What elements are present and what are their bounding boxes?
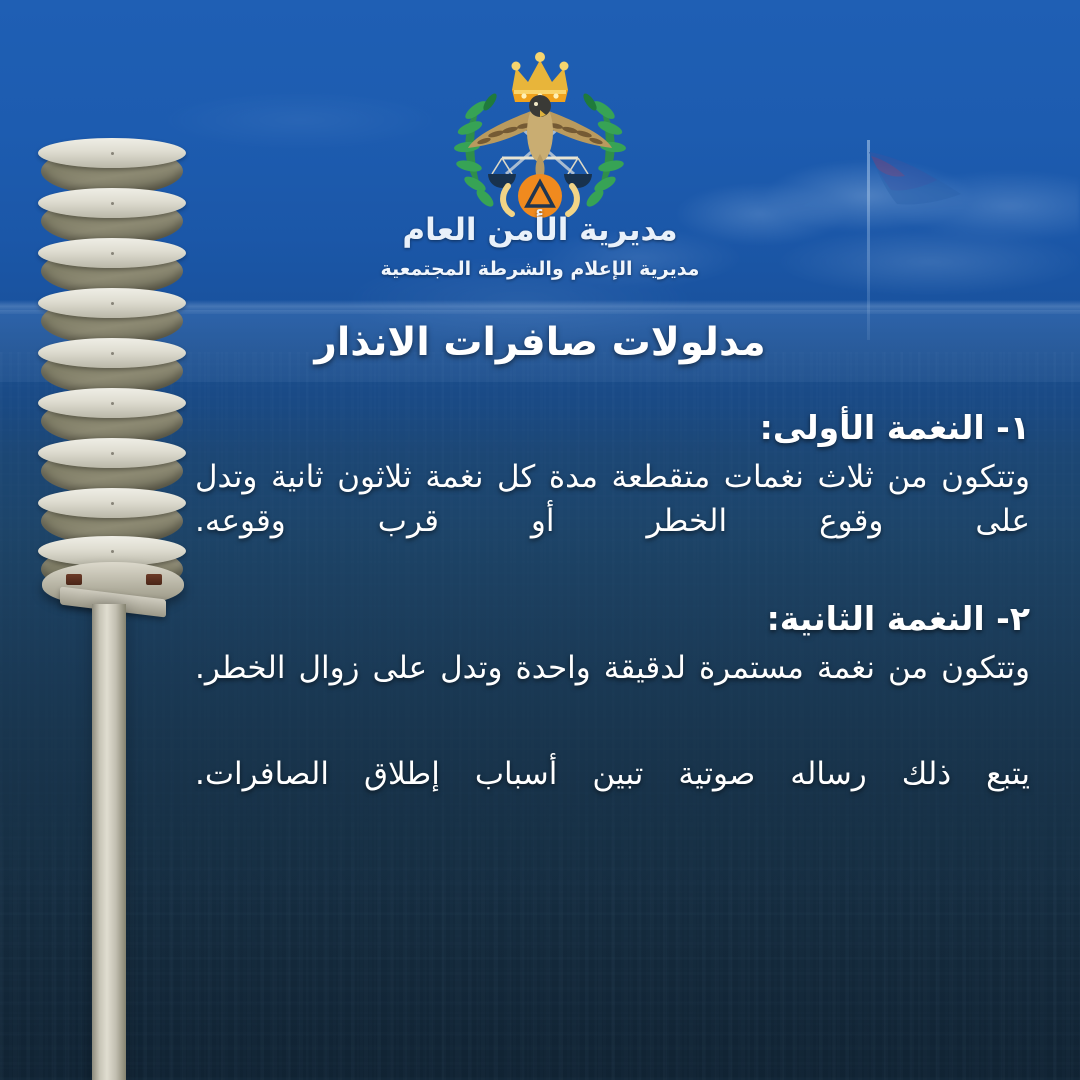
section-heading: ١- النغمة الأولى: — [195, 408, 1030, 447]
jordan-public-security-emblem — [450, 46, 630, 224]
section-heading: ٢- النغمة الثانية: — [195, 599, 1030, 638]
section-first-tone: ١- النغمة الأولى: وتتكون من ثلاث نغمات م… — [195, 408, 1030, 543]
organization-subtitle: مديرية الإعلام والشرطة المجتمعية — [0, 258, 1080, 280]
section-body: وتتكون من ثلاث نغمات متقطعة مدة كل نغمة … — [195, 455, 1030, 543]
closing-note: يتبع ذلك رساله صوتية تبين أسباب إطلاق ال… — [195, 752, 1030, 796]
royal-crown-icon — [512, 52, 569, 102]
organization-script-title: مديرية الأمن العام — [0, 212, 1080, 248]
siren-pole — [92, 604, 126, 1080]
poster-content: ١- النغمة الأولى: وتتكون من ثلاث نغمات م… — [195, 408, 1030, 796]
section-body: وتتكون من نغمة مستمرة لدقيقة واحدة وتدل … — [195, 646, 1030, 690]
poster-canvas: مديرية الأمن العام مديرية الإعلام والشرط… — [0, 0, 1080, 1080]
section-second-tone: ٢- النغمة الثانية: وتتكون من نغمة مستمرة… — [195, 599, 1030, 690]
page-title: مدلولات صافرات الانذار — [0, 320, 1080, 365]
